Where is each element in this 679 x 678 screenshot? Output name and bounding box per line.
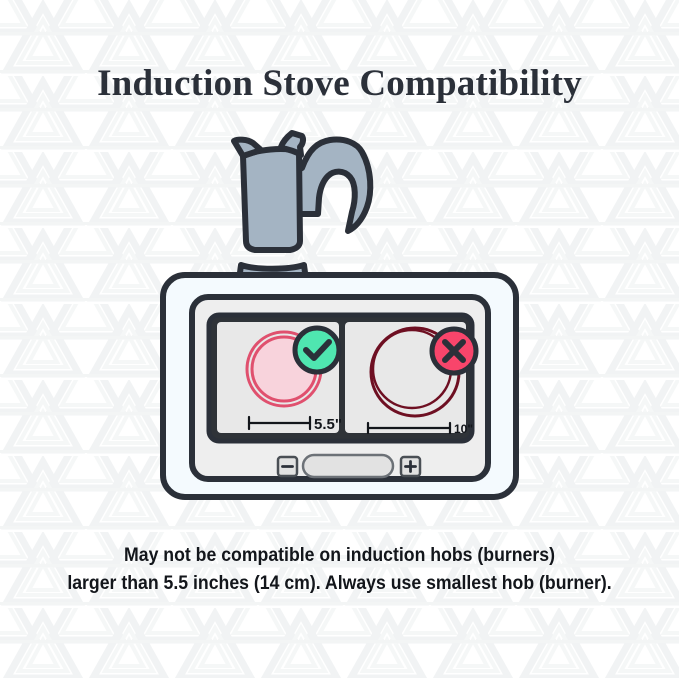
check-badge-circle bbox=[295, 328, 339, 372]
compatible-badge bbox=[295, 328, 339, 372]
moka-pot-upper-body bbox=[243, 149, 300, 250]
caption-line-2: larger than 5.5 inches (14 cm). Always u… bbox=[24, 570, 655, 598]
moka-pot-lid-left bbox=[234, 140, 261, 156]
illustration-canvas: Induction Stove Compatibility bbox=[0, 0, 679, 678]
induction-stove: 5.5" 10" bbox=[163, 275, 516, 497]
power-slider[interactable] bbox=[303, 455, 393, 477]
caption-line-1: May not be compatible on induction hobs … bbox=[24, 542, 655, 570]
not-compatible-badge bbox=[432, 329, 476, 373]
page-title: Induction Stove Compatibility bbox=[0, 62, 679, 105]
caption: May not be compatible on induction hobs … bbox=[24, 542, 655, 598]
hob-right-size-label: 10" bbox=[454, 422, 473, 436]
hob-left-size-label: 5.5" bbox=[314, 416, 342, 433]
